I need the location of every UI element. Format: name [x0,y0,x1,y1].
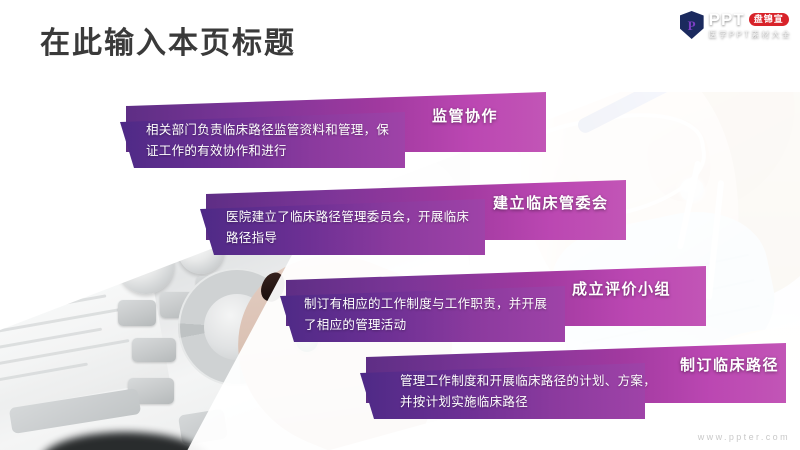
ribbon-body: 制订有相应的工作制度与工作职责，并开展 了相应的管理活动 [304,294,572,335]
ribbon-body: 管理工作制度和开展临床路径的计划、方案， 并按计划实施临床路径 [400,371,668,412]
ribbon-title: 制订临床路径 [680,354,779,375]
ribbon-title: 建立临床管委会 [493,192,609,213]
ribbon-body: 相关部门负责临床路径监管资料和管理，保 证工作的有效协作和进行 [146,120,414,161]
ribbon-title: 监管协作 [432,105,498,126]
slide-canvas: 在此输入本页标题 PPT 盘锦宣 医学PPT素材大全 监管协作 相关部门负责临床… [0,0,800,450]
watermark: www.ppter.com [698,432,790,442]
ribbon-rows: 监管协作 相关部门负责临床路径监管资料和管理，保 证工作的有效协作和进行 建立临… [0,0,800,450]
ribbon-body: 医院建立了临床路径管理委员会，开展临床 路径指导 [226,207,494,248]
ribbon-title: 成立评价小组 [572,278,671,299]
